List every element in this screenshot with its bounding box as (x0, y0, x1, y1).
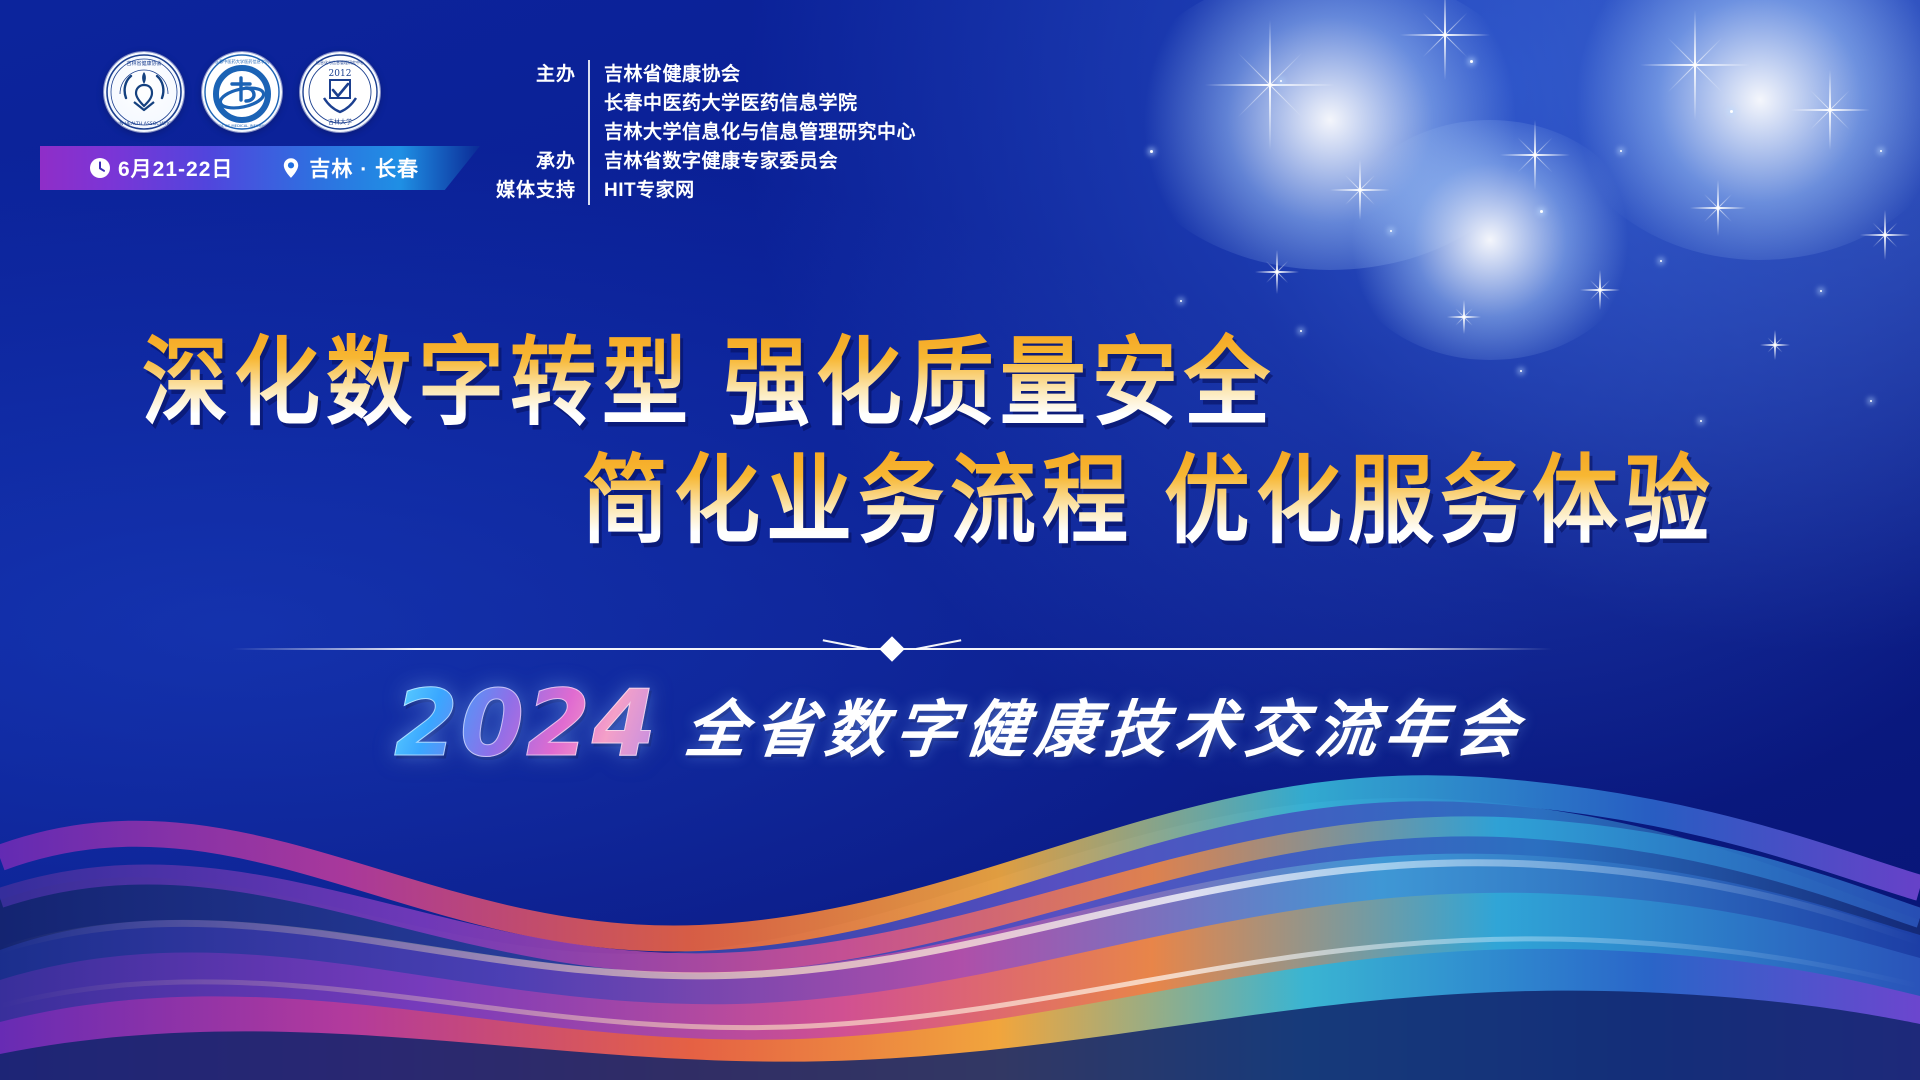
sparkle-icon (1860, 210, 1910, 260)
star-dot (1620, 150, 1622, 152)
svg-text:长春中医药大学医药信息学院: 长春中医药大学医药信息学院 (215, 58, 270, 65)
sparkle-icon (1640, 10, 1750, 120)
changchun-tcm-university-medical-information-college-logo: 长春中医药大学医药信息学院 SCHOOL OF MEDICAL INFORMAT… (202, 52, 282, 132)
event-date-text: 6月21-22日 (118, 153, 233, 183)
sparkle-icon (1790, 70, 1870, 150)
event-date: 6月21-22日 (88, 153, 233, 183)
sparkle-icon (1330, 160, 1390, 220)
sparkle-icon (1255, 250, 1299, 294)
svg-text:吉林省健康协会: 吉林省健康协会 (126, 60, 161, 67)
organizer-row: 媒体支持 HIT专家网 (492, 176, 916, 205)
svg-text:2012: 2012 (329, 69, 352, 79)
star-dot (1660, 260, 1662, 262)
organizer-label: 媒体支持 (492, 176, 588, 205)
map-pin-icon (279, 156, 303, 180)
star-dot (1820, 290, 1822, 292)
event-location: 吉林 · 长春 (279, 153, 419, 183)
star-dot (1540, 210, 1543, 213)
wave-decoration (0, 650, 1920, 1080)
star-glow (1340, 120, 1640, 360)
sparkle-icon (1500, 120, 1570, 190)
headline-line-1: 深化数字转型 强化质量安全 (0, 330, 1920, 438)
star-glow (1120, 0, 1540, 270)
event-location-text: 吉林 · 长春 (309, 153, 419, 183)
star-glow (1560, 0, 1920, 260)
headline-line-2: 简化业务流程 优化服务体验 (0, 448, 1920, 556)
organizer-row: 长春中医药大学医药信息学院 (492, 89, 916, 118)
star-dot (1730, 110, 1733, 113)
clock-icon (88, 156, 112, 180)
organizer-value: 吉林省数字健康专家委员会 (588, 147, 838, 176)
organizer-value: HIT专家网 (588, 176, 695, 205)
sparkle-icon (1690, 180, 1746, 236)
event-meta-bar: 6月21-22日 吉林 · 长春 (40, 146, 480, 190)
star-dot (1470, 60, 1473, 63)
sparkle-icon (1400, 0, 1490, 80)
organizer-row: 主办 吉林省健康协会 (492, 60, 916, 89)
organizer-block: 主办 吉林省健康协会 长春中医药大学医药信息学院 吉林大学信息化与信息管理研究中… (492, 60, 916, 205)
organizer-value: 吉林省健康协会 (588, 60, 741, 89)
headline-block: 深化数字转型 强化质量安全 简化业务流程 优化服务体验 (0, 330, 1920, 545)
sparkle-icon (1580, 270, 1620, 310)
sparkle-icon (1447, 300, 1481, 334)
jilin-health-association-logo: 吉林省健康协会 JILIN HEALTH ASSOCIATION (104, 52, 184, 132)
organizer-value: 吉林大学信息化与信息管理研究中心 (588, 118, 916, 147)
star-dot (1150, 150, 1153, 153)
organizer-row: 承办 吉林省数字健康专家委员会 (492, 147, 916, 176)
svg-text:JILIN HEALTH ASSOCIATION: JILIN HEALTH ASSOCIATION (112, 121, 175, 127)
organizer-value: 长春中医药大学医药信息学院 (588, 89, 858, 118)
star-dot (1180, 300, 1182, 302)
organizer-label: 主办 (492, 60, 588, 89)
poster-canvas: 吉林省健康协会 JILIN HEALTH ASSOCIATION 长春中医药大学… (0, 0, 1920, 1080)
jilin-university-informatization-research-center-logo: 2012 信息化与信息管理研究中心 吉林大学 (300, 52, 380, 132)
svg-text:吉林大学: 吉林大学 (328, 118, 352, 126)
organizer-row: 吉林大学信息化与信息管理研究中心 (492, 118, 916, 147)
logo-group: 吉林省健康协会 JILIN HEALTH ASSOCIATION 长春中医药大学… (104, 52, 380, 132)
star-dot (1390, 230, 1392, 232)
svg-text:SCHOOL OF MEDICAL INFORMATION: SCHOOL OF MEDICAL INFORMATION (208, 123, 277, 128)
star-dot (1880, 150, 1882, 152)
organizer-label: 承办 (492, 147, 588, 176)
star-dot (1280, 80, 1282, 82)
svg-text:信息化与信息管理研究中心: 信息化与信息管理研究中心 (316, 59, 364, 65)
sparkle-icon (1205, 20, 1335, 150)
